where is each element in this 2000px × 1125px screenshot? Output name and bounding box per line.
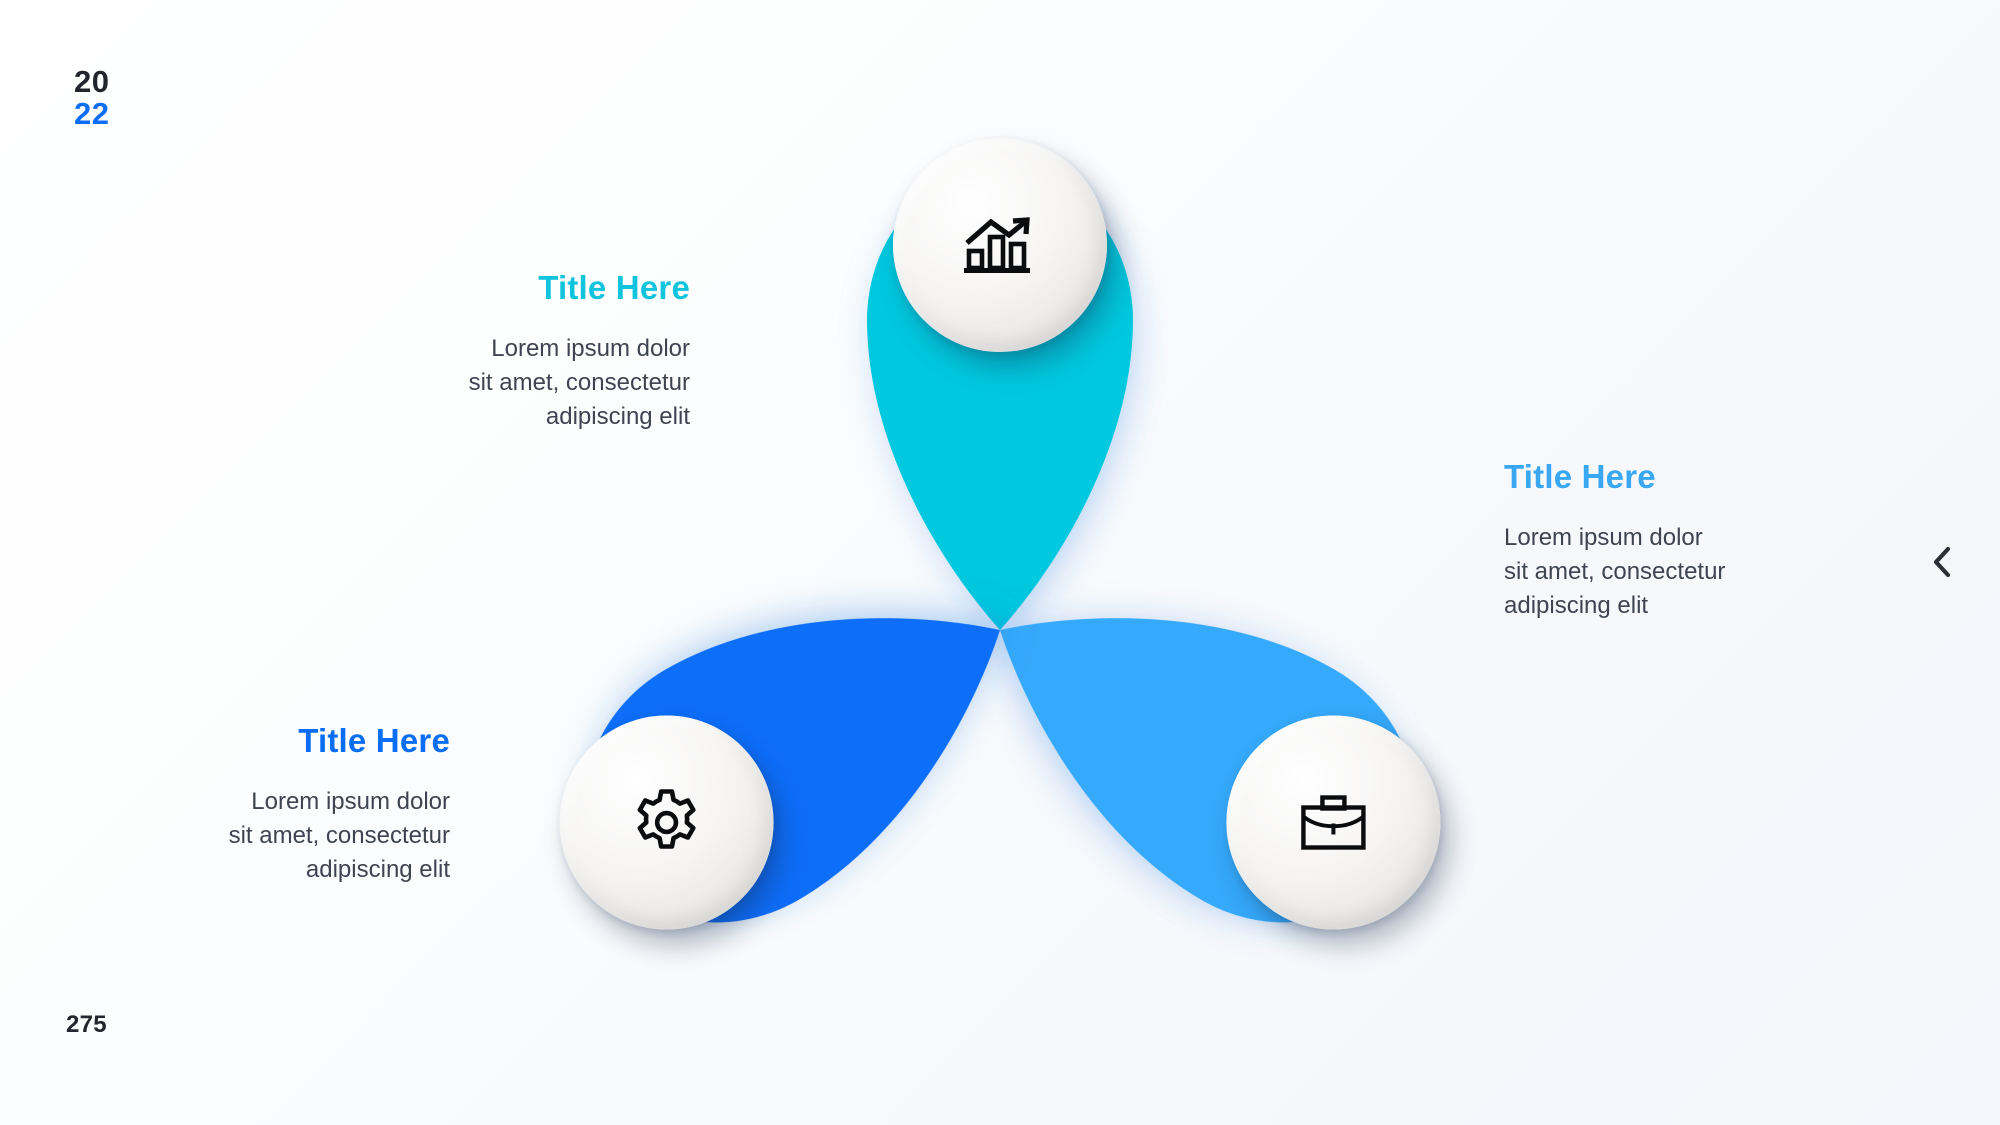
item-body-bottom-left: Lorem ipsum dolor sit amet, consectetur …: [120, 785, 450, 887]
growth-chart-icon: [963, 213, 1037, 277]
year-bottom: 22: [74, 98, 109, 130]
slide-canvas: 20 22 275 Title Here Lorem ipsum dolor s…: [0, 0, 2000, 1125]
item-text-right: Title Here Lorem ipsum dolor sit amet, c…: [1504, 459, 1884, 624]
item-text-bottom-left: Title Here Lorem ipsum dolor sit amet, c…: [120, 723, 450, 888]
year-label: 20 22: [74, 66, 109, 129]
item-title-right: Title Here: [1504, 459, 1884, 495]
item-body-top: Lorem ipsum dolor sit amet, consectetur …: [330, 332, 690, 434]
briefcase-icon: [1299, 793, 1367, 853]
item-body-right: Lorem ipsum dolor sit amet, consectetur …: [1504, 521, 1884, 623]
icon-disc-right[interactable]: [1226, 716, 1440, 930]
page-number: 275: [66, 1011, 107, 1039]
year-top: 20: [74, 66, 109, 98]
icon-disc-top[interactable]: [893, 138, 1107, 352]
item-title-top: Title Here: [330, 270, 690, 306]
prev-slide-button[interactable]: [1918, 536, 1966, 588]
item-title-bottom-left: Title Here: [120, 723, 450, 759]
item-text-top: Title Here Lorem ipsum dolor sit amet, c…: [330, 270, 690, 435]
gear-icon: [631, 787, 703, 859]
icon-disc-bottom-left[interactable]: [560, 716, 774, 930]
chevron-left-icon: [1929, 545, 1955, 579]
